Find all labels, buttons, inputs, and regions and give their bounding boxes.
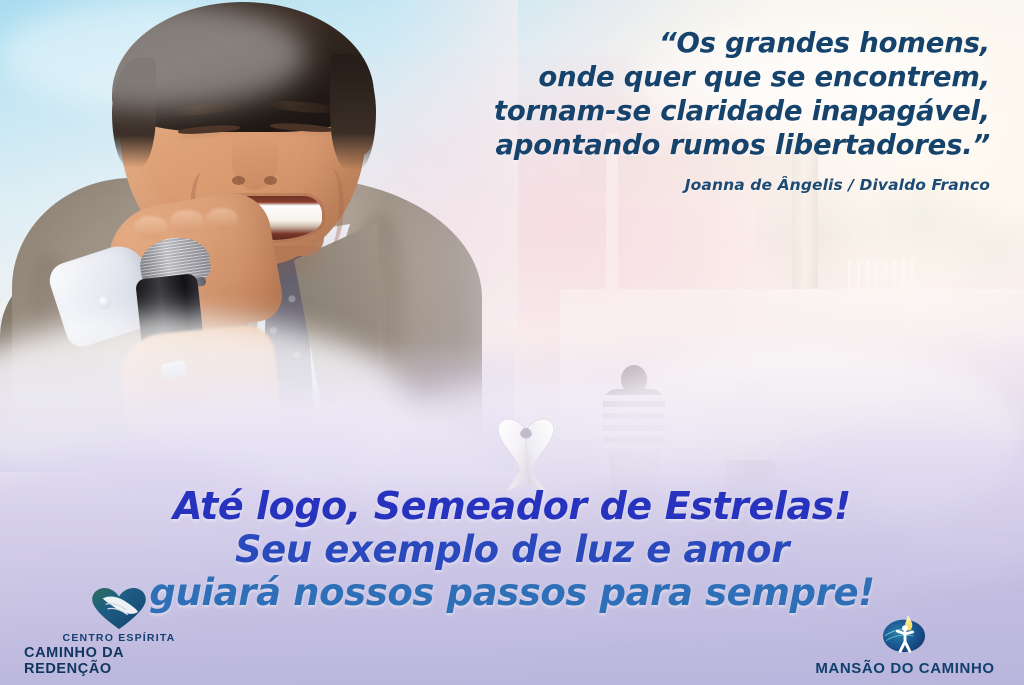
memorial-poster: “Os grandes homens, onde quer que se enc… (0, 0, 1024, 685)
gate-icon (848, 260, 913, 324)
white-awareness-ribbon-icon (484, 408, 568, 494)
figure-with-flame-in-oval-icon (879, 612, 931, 654)
quote-line-4: apontando rumos libertadores.” (370, 128, 990, 162)
quote-line-1: “Os grandes homens, (370, 26, 990, 60)
quote-line-3: tornam-se claridade inapagável, (370, 94, 990, 128)
quote-line-2: onde quer que se encontrem, (370, 60, 990, 94)
logo-line-2: CAMINHO DA REDENÇÃO (24, 645, 214, 677)
cuff-button (98, 296, 111, 309)
quote-attribution: Joanna de Ângelis / Divaldo Franco (370, 176, 990, 194)
nostril-left (232, 176, 245, 185)
logo-line-2: MANSÃO DO CAMINHO (815, 660, 994, 677)
knuckle (206, 208, 238, 230)
hair-side-left (112, 58, 156, 168)
knuckle (134, 216, 168, 238)
knuckle (170, 210, 204, 232)
logo-line-1: CENTRO ESPÍRITA (63, 632, 176, 644)
message-line-1: Até logo, Semeador de Estrelas! (0, 484, 1024, 528)
heart-with-hands-icon (90, 588, 148, 630)
nostril-right (264, 176, 277, 185)
logo-centro-espirita: CENTRO ESPÍRITA CAMINHO DA REDENÇÃO (24, 588, 214, 677)
message-line-2: Seu exemplo de luz e amor (0, 528, 1024, 571)
quote-block: “Os grandes homens, onde quer que se enc… (370, 26, 990, 194)
logo-mansao-do-caminho: MANSÃO DO CAMINHO (800, 612, 1010, 677)
